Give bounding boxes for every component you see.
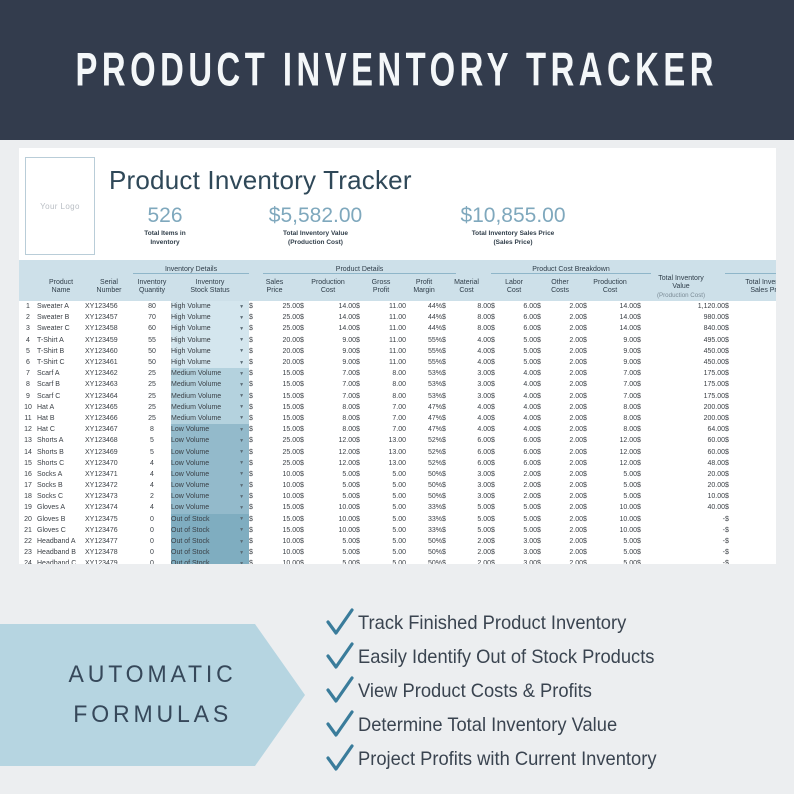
chevron-down-icon[interactable]: ▼ <box>239 326 244 332</box>
cell-value[interactable]: 8.00 <box>370 379 406 390</box>
cell-profit-margin[interactable]: 47% <box>406 424 442 435</box>
cell-inventory-quantity[interactable]: 60 <box>133 323 171 334</box>
cell-value[interactable]: 5.00 <box>370 480 406 491</box>
cell-value[interactable]: 5.00 <box>370 491 406 502</box>
cell-profit-margin[interactable]: 55% <box>406 357 442 368</box>
cell-value[interactable]: - <box>739 525 776 536</box>
cell-profit-margin[interactable]: 50% <box>406 536 442 547</box>
table-row[interactable]: 24Headband CXY1234790Out of Stock▼$10.00… <box>19 558 776 564</box>
cell-stock-status[interactable]: Medium Volume▼ <box>171 402 249 413</box>
cell-value[interactable]: 14.00 <box>597 301 637 312</box>
cell-value[interactable]: 14.00 <box>314 301 356 312</box>
cell-value[interactable]: 4.00 <box>456 424 491 435</box>
cell-value[interactable]: 40.00 <box>739 469 776 480</box>
chevron-down-icon[interactable]: ▼ <box>239 516 244 522</box>
cell-serial-number[interactable]: XY123457 <box>85 312 133 323</box>
cell-profit-margin[interactable]: 50% <box>406 469 442 480</box>
cell-value[interactable]: 14.00 <box>314 323 356 334</box>
table-row[interactable]: 4T-Shirt AXY12345955High Volume▼$20.00$9… <box>19 335 776 346</box>
cell-value[interactable]: 450.00 <box>651 357 725 368</box>
cell-value[interactable]: 4.00 <box>505 402 537 413</box>
cell-value[interactable]: 20.00 <box>651 480 725 491</box>
cell-value[interactable]: 5.00 <box>505 502 537 513</box>
cell-serial-number[interactable]: XY123471 <box>85 469 133 480</box>
cell-inventory-quantity[interactable]: 0 <box>133 536 171 547</box>
cell-stock-status[interactable]: High Volume▼ <box>171 323 249 334</box>
cell-inventory-quantity[interactable]: 0 <box>133 558 171 564</box>
cell-value[interactable]: 9.00 <box>314 346 356 357</box>
cell-product-name[interactable]: Socks C <box>37 491 85 502</box>
cell-product-name[interactable]: T-Shirt B <box>37 346 85 357</box>
cell-value[interactable]: 12.00 <box>597 458 637 469</box>
cell-value[interactable]: - <box>651 558 725 564</box>
cell-profit-margin[interactable]: 33% <box>406 502 442 513</box>
cell-value[interactable]: 14.00 <box>597 323 637 334</box>
cell-stock-status[interactable]: High Volume▼ <box>171 346 249 357</box>
cell-value[interactable]: 11.00 <box>370 312 406 323</box>
table-row[interactable]: 19Gloves AXY1234744Low Volume▼$15.00$10.… <box>19 502 776 513</box>
cell-serial-number[interactable]: XY123459 <box>85 335 133 346</box>
cell-stock-status[interactable]: Medium Volume▼ <box>171 391 249 402</box>
cell-value[interactable]: 8.00 <box>314 413 356 424</box>
chevron-down-icon[interactable]: ▼ <box>239 337 244 343</box>
cell-value[interactable]: 10.00 <box>597 514 637 525</box>
cell-value[interactable]: 11.00 <box>370 301 406 312</box>
cell-value[interactable]: 48.00 <box>651 458 725 469</box>
cell-value[interactable]: 2.00 <box>456 536 491 547</box>
cell-value[interactable]: 9.00 <box>597 335 637 346</box>
table-row[interactable]: 11Hat BXY12346625Medium Volume▼$15.00$8.… <box>19 413 776 424</box>
cell-serial-number[interactable]: XY123467 <box>85 424 133 435</box>
table-row[interactable]: 7Scarf AXY12346225Medium Volume▼$15.00$7… <box>19 368 776 379</box>
cell-value[interactable]: 2.00 <box>551 379 583 390</box>
cell-stock-status[interactable]: High Volume▼ <box>171 312 249 323</box>
chevron-down-icon[interactable]: ▼ <box>239 561 244 564</box>
cell-stock-status[interactable]: High Volume▼ <box>171 335 249 346</box>
cell-value[interactable]: 200.00 <box>651 402 725 413</box>
cell-value[interactable]: 14.00 <box>597 312 637 323</box>
cell-stock-status[interactable]: Medium Volume▼ <box>171 413 249 424</box>
cell-value[interactable]: 5.00 <box>314 558 356 564</box>
cell-value[interactable]: 10.00 <box>597 502 637 513</box>
cell-product-name[interactable]: T-Shirt A <box>37 335 85 346</box>
cell-value[interactable]: 980.00 <box>651 312 725 323</box>
cell-value[interactable]: 4.00 <box>456 402 491 413</box>
cell-value[interactable]: 5.00 <box>370 547 406 558</box>
chevron-down-icon[interactable]: ▼ <box>239 527 244 533</box>
col-gross-profit[interactable]: GrossProfit <box>356 273 406 301</box>
cell-value[interactable]: 5.00 <box>314 491 356 502</box>
table-row[interactable]: 10Hat AXY12346525Medium Volume▼$15.00$8.… <box>19 402 776 413</box>
cell-value[interactable]: 25.00 <box>263 323 300 334</box>
cell-profit-margin[interactable]: 44% <box>406 312 442 323</box>
cell-value[interactable]: 7.00 <box>597 379 637 390</box>
cell-value[interactable]: 450.00 <box>651 346 725 357</box>
cell-value[interactable]: 1,000.00 <box>739 346 776 357</box>
cell-inventory-quantity[interactable]: 55 <box>133 335 171 346</box>
cell-inventory-quantity[interactable]: 0 <box>133 525 171 536</box>
chevron-down-icon[interactable]: ▼ <box>239 539 244 545</box>
cell-value[interactable]: - <box>651 525 725 536</box>
cell-product-name[interactable]: Sweater B <box>37 312 85 323</box>
cell-value[interactable]: 10.00 <box>314 525 356 536</box>
cell-stock-status[interactable]: Low Volume▼ <box>171 469 249 480</box>
cell-value[interactable]: 10.00 <box>314 514 356 525</box>
cell-value[interactable]: 15.00 <box>263 514 300 525</box>
cell-value[interactable]: 5.00 <box>505 346 537 357</box>
cell-value[interactable]: 4.00 <box>505 424 537 435</box>
cell-value[interactable]: 15.00 <box>263 525 300 536</box>
cell-value[interactable]: 2.00 <box>551 547 583 558</box>
cell-value[interactable]: 12.00 <box>314 435 356 446</box>
cell-profit-margin[interactable]: 50% <box>406 547 442 558</box>
cell-value[interactable]: 11.00 <box>370 357 406 368</box>
cell-value[interactable]: 25.00 <box>263 312 300 323</box>
cell-value[interactable]: 2.00 <box>551 536 583 547</box>
cell-serial-number[interactable]: XY123474 <box>85 502 133 513</box>
cell-value[interactable]: 6.00 <box>456 435 491 446</box>
cell-profit-margin[interactable]: 53% <box>406 391 442 402</box>
cell-inventory-quantity[interactable]: 25 <box>133 402 171 413</box>
logo-placeholder-box[interactable]: Your Logo <box>25 157 95 255</box>
cell-value[interactable]: 12.00 <box>314 458 356 469</box>
cell-value[interactable]: - <box>651 514 725 525</box>
cell-value[interactable]: 12.00 <box>314 446 356 457</box>
cell-product-name[interactable]: Headband B <box>37 547 85 558</box>
cell-value[interactable]: 4.00 <box>456 335 491 346</box>
cell-value[interactable]: 2.00 <box>456 558 491 564</box>
chevron-down-icon[interactable]: ▼ <box>239 427 244 433</box>
cell-value[interactable]: 5.00 <box>370 525 406 536</box>
cell-product-name[interactable]: Shorts A <box>37 435 85 446</box>
cell-value[interactable]: 5.00 <box>370 514 406 525</box>
col-production-cost-2[interactable]: ProductionCost <box>583 273 637 301</box>
cell-value[interactable]: 25.00 <box>263 301 300 312</box>
cell-value[interactable]: 5.00 <box>597 547 637 558</box>
cell-serial-number[interactable]: XY123469 <box>85 446 133 457</box>
table-row[interactable]: 9Scarf CXY12346425Medium Volume▼$15.00$7… <box>19 391 776 402</box>
cell-value[interactable]: 2.00 <box>551 301 583 312</box>
cell-serial-number[interactable]: XY123468 <box>85 435 133 446</box>
cell-value[interactable]: 2.00 <box>456 547 491 558</box>
cell-value[interactable]: 6.00 <box>505 435 537 446</box>
cell-value[interactable]: 4.00 <box>505 413 537 424</box>
cell-value[interactable]: 5.00 <box>597 480 637 491</box>
col-profit-margin[interactable]: ProfitMargin <box>406 273 442 301</box>
table-row[interactable]: 21Gloves CXY1234760Out of Stock▼$15.00$1… <box>19 525 776 536</box>
cell-product-name[interactable]: Hat A <box>37 402 85 413</box>
cell-value[interactable]: 6.00 <box>505 312 537 323</box>
cell-value[interactable]: 8.00 <box>597 424 637 435</box>
cell-value[interactable]: 4.00 <box>505 379 537 390</box>
cell-value[interactable]: 5.00 <box>505 335 537 346</box>
cell-profit-margin[interactable]: 44% <box>406 301 442 312</box>
cell-value[interactable]: 2.00 <box>551 424 583 435</box>
chevron-down-icon[interactable]: ▼ <box>239 371 244 377</box>
cell-inventory-quantity[interactable]: 80 <box>133 301 171 312</box>
cell-profit-margin[interactable]: 50% <box>406 480 442 491</box>
cell-value[interactable]: 7.00 <box>370 413 406 424</box>
cell-value[interactable]: 11.00 <box>370 335 406 346</box>
cell-product-name[interactable]: Sweater A <box>37 301 85 312</box>
col-material-cost[interactable]: MaterialCost <box>442 273 491 301</box>
table-row[interactable]: 12Hat CXY1234678Low Volume▼$15.00$8.00$7… <box>19 424 776 435</box>
cell-profit-margin[interactable]: 55% <box>406 346 442 357</box>
cell-value[interactable]: 5.00 <box>370 558 406 564</box>
cell-value[interactable]: 6.00 <box>505 323 537 334</box>
cell-inventory-quantity[interactable]: 25 <box>133 413 171 424</box>
cell-value[interactable]: 2.00 <box>551 446 583 457</box>
chevron-down-icon[interactable]: ▼ <box>239 483 244 489</box>
chevron-down-icon[interactable]: ▼ <box>239 460 244 466</box>
cell-value[interactable]: 40.00 <box>651 502 725 513</box>
cell-profit-margin[interactable]: 53% <box>406 368 442 379</box>
col-other-costs[interactable]: OtherCosts <box>537 273 583 301</box>
table-row[interactable]: 2Sweater BXY12345770High Volume▼$25.00$1… <box>19 312 776 323</box>
cell-product-name[interactable]: Hat B <box>37 413 85 424</box>
cell-serial-number[interactable]: XY123462 <box>85 368 133 379</box>
col-total-inventory-sales-price[interactable]: Total InventorySales Price <box>725 273 776 301</box>
table-row[interactable]: 16Socks AXY1234714Low Volume▼$10.00$5.00… <box>19 469 776 480</box>
cell-serial-number[interactable]: XY123476 <box>85 525 133 536</box>
cell-profit-margin[interactable]: 33% <box>406 525 442 536</box>
cell-value[interactable]: 2.00 <box>551 491 583 502</box>
cell-value[interactable]: 175.00 <box>651 368 725 379</box>
cell-product-name[interactable]: Sweater C <box>37 323 85 334</box>
cell-value[interactable]: 7.00 <box>597 368 637 379</box>
cell-value[interactable]: 2.00 <box>505 491 537 502</box>
chevron-down-icon[interactable]: ▼ <box>239 505 244 511</box>
cell-inventory-quantity[interactable]: 5 <box>133 435 171 446</box>
cell-inventory-quantity[interactable]: 0 <box>133 547 171 558</box>
cell-value[interactable]: 15.00 <box>263 391 300 402</box>
cell-value[interactable]: 2.00 <box>551 402 583 413</box>
cell-value[interactable]: 4.00 <box>456 346 491 357</box>
cell-value[interactable]: 1,750.00 <box>739 312 776 323</box>
cell-value[interactable]: 5.00 <box>314 547 356 558</box>
cell-value[interactable]: 5.00 <box>456 525 491 536</box>
cell-value[interactable]: 8.00 <box>370 368 406 379</box>
chevron-down-icon[interactable]: ▼ <box>239 550 244 556</box>
cell-value[interactable]: 10.00 <box>314 502 356 513</box>
cell-profit-margin[interactable]: 50% <box>406 558 442 564</box>
cell-value[interactable]: 7.00 <box>370 424 406 435</box>
cell-product-name[interactable]: Socks A <box>37 469 85 480</box>
cell-value[interactable]: 5.00 <box>370 536 406 547</box>
col-inventory-quantity[interactable]: InventoryQuantity <box>133 273 171 301</box>
cell-value[interactable]: 5.00 <box>597 558 637 564</box>
cell-serial-number[interactable]: XY123465 <box>85 402 133 413</box>
cell-value[interactable]: 25.00 <box>263 446 300 457</box>
cell-product-name[interactable]: Gloves C <box>37 525 85 536</box>
cell-inventory-quantity[interactable]: 4 <box>133 469 171 480</box>
cell-value[interactable]: 10.00 <box>263 558 300 564</box>
cell-value[interactable]: 2.00 <box>551 312 583 323</box>
cell-value[interactable]: 2.00 <box>551 391 583 402</box>
cell-product-name[interactable]: Shorts C <box>37 458 85 469</box>
cell-value[interactable]: 15.00 <box>263 413 300 424</box>
cell-value[interactable]: 3.00 <box>505 547 537 558</box>
cell-product-name[interactable]: Socks B <box>37 480 85 491</box>
cell-serial-number[interactable]: XY123472 <box>85 480 133 491</box>
cell-product-name[interactable]: Headband C <box>37 558 85 564</box>
cell-value[interactable]: 5.00 <box>456 502 491 513</box>
cell-inventory-quantity[interactable]: 8 <box>133 424 171 435</box>
chevron-down-icon[interactable]: ▼ <box>239 449 244 455</box>
cell-inventory-quantity[interactable]: 50 <box>133 346 171 357</box>
cell-value[interactable]: 5.00 <box>597 469 637 480</box>
table-row[interactable]: 13Shorts AXY1234685Low Volume▼$25.00$12.… <box>19 435 776 446</box>
cell-value[interactable]: 4.00 <box>456 357 491 368</box>
cell-value[interactable]: 25.00 <box>263 435 300 446</box>
cell-value[interactable]: 40.00 <box>739 480 776 491</box>
cell-stock-status[interactable]: Medium Volume▼ <box>171 368 249 379</box>
cell-value[interactable]: 5.00 <box>314 536 356 547</box>
table-row[interactable]: 1Sweater AXY12345680High Volume▼$25.00$1… <box>19 301 776 312</box>
cell-value[interactable]: 12.00 <box>597 435 637 446</box>
cell-product-name[interactable]: Gloves B <box>37 514 85 525</box>
cell-profit-margin[interactable]: 33% <box>406 514 442 525</box>
cell-value[interactable]: 2.00 <box>551 502 583 513</box>
cell-value[interactable]: 60.00 <box>739 502 776 513</box>
chevron-down-icon[interactable]: ▼ <box>239 471 244 477</box>
cell-stock-status[interactable]: Medium Volume▼ <box>171 379 249 390</box>
cell-value[interactable]: 175.00 <box>651 391 725 402</box>
cell-value[interactable]: 8.00 <box>314 402 356 413</box>
cell-value[interactable]: 3.00 <box>456 379 491 390</box>
cell-product-name[interactable]: Scarf B <box>37 379 85 390</box>
chevron-down-icon[interactable]: ▼ <box>239 393 244 399</box>
cell-stock-status[interactable]: Low Volume▼ <box>171 435 249 446</box>
cell-stock-status[interactable]: Low Volume▼ <box>171 424 249 435</box>
chevron-down-icon[interactable]: ▼ <box>239 348 244 354</box>
table-row[interactable]: 5T-Shirt BXY12346050High Volume▼$20.00$9… <box>19 346 776 357</box>
cell-inventory-quantity[interactable]: 25 <box>133 368 171 379</box>
cell-value[interactable]: 8.00 <box>314 424 356 435</box>
cell-inventory-quantity[interactable]: 4 <box>133 458 171 469</box>
cell-value[interactable]: 495.00 <box>651 335 725 346</box>
cell-value[interactable]: 3.00 <box>505 536 537 547</box>
chevron-down-icon[interactable]: ▼ <box>239 438 244 444</box>
col-inventory-stock-status[interactable]: InventoryStock Status <box>171 273 249 301</box>
cell-value[interactable]: 6.00 <box>456 446 491 457</box>
cell-value[interactable]: 60.00 <box>651 435 725 446</box>
cell-value[interactable]: 10.00 <box>597 525 637 536</box>
col-product-name[interactable]: ProductName <box>37 273 85 301</box>
cell-value[interactable]: 4.00 <box>505 391 537 402</box>
cell-value[interactable]: 5.00 <box>456 514 491 525</box>
cell-value[interactable]: 12.00 <box>597 446 637 457</box>
cell-value[interactable]: 15.00 <box>263 379 300 390</box>
cell-inventory-quantity[interactable]: 4 <box>133 502 171 513</box>
col-total-inventory-value[interactable]: Total InventoryValue(Production Cost) <box>637 273 725 301</box>
cell-value[interactable]: 5.00 <box>370 469 406 480</box>
cell-value[interactable]: 20.00 <box>263 357 300 368</box>
cell-value[interactable]: 375.00 <box>739 402 776 413</box>
chevron-down-icon[interactable]: ▼ <box>239 494 244 500</box>
cell-value[interactable]: 9.00 <box>314 335 356 346</box>
cell-value[interactable]: 375.00 <box>739 379 776 390</box>
cell-value[interactable]: 6.00 <box>505 458 537 469</box>
table-row[interactable]: 6T-Shirt CXY12346150High Volume▼$20.00$9… <box>19 357 776 368</box>
cell-value[interactable]: 3.00 <box>505 558 537 564</box>
cell-stock-status[interactable]: Out of Stock▼ <box>171 558 249 564</box>
cell-profit-margin[interactable]: 50% <box>406 491 442 502</box>
table-row[interactable]: 23Headband BXY1234780Out of Stock▼$10.00… <box>19 547 776 558</box>
cell-serial-number[interactable]: XY123477 <box>85 536 133 547</box>
cell-value[interactable]: 11.00 <box>370 323 406 334</box>
cell-value[interactable]: 15.00 <box>263 424 300 435</box>
col-sales-price[interactable]: SalesPrice <box>249 273 300 301</box>
cell-stock-status[interactable]: Out of Stock▼ <box>171 525 249 536</box>
cell-value[interactable]: 10.00 <box>263 469 300 480</box>
cell-value[interactable]: 8.00 <box>456 301 491 312</box>
cell-value[interactable]: 100.00 <box>739 458 776 469</box>
cell-value[interactable]: 5.00 <box>505 514 537 525</box>
cell-inventory-quantity[interactable]: 50 <box>133 357 171 368</box>
cell-profit-margin[interactable]: 44% <box>406 323 442 334</box>
cell-value[interactable]: 10.00 <box>263 480 300 491</box>
cell-value[interactable]: 4.00 <box>505 368 537 379</box>
table-row[interactable]: 18Socks CXY1234732Low Volume▼$10.00$5.00… <box>19 491 776 502</box>
cell-stock-status[interactable]: Low Volume▼ <box>171 502 249 513</box>
cell-value[interactable]: 175.00 <box>651 379 725 390</box>
cell-value[interactable]: 3.00 <box>456 469 491 480</box>
cell-value[interactable]: 3.00 <box>456 480 491 491</box>
cell-value[interactable]: 840.00 <box>651 323 725 334</box>
cell-value[interactable]: 375.00 <box>739 391 776 402</box>
chevron-down-icon[interactable]: ▼ <box>239 415 244 421</box>
cell-stock-status[interactable]: Low Volume▼ <box>171 446 249 457</box>
cell-product-name[interactable]: Scarf C <box>37 391 85 402</box>
cell-value[interactable]: - <box>651 536 725 547</box>
cell-value[interactable]: 2.00 <box>551 335 583 346</box>
cell-value[interactable]: 8.00 <box>456 312 491 323</box>
cell-inventory-quantity[interactable]: 70 <box>133 312 171 323</box>
cell-serial-number[interactable]: XY123479 <box>85 558 133 564</box>
cell-value[interactable]: 6.00 <box>456 458 491 469</box>
cell-value[interactable]: 20.00 <box>263 335 300 346</box>
cell-serial-number[interactable]: XY123458 <box>85 323 133 334</box>
cell-value[interactable]: 13.00 <box>370 435 406 446</box>
cell-value[interactable]: 6.00 <box>505 446 537 457</box>
cell-inventory-quantity[interactable]: 25 <box>133 391 171 402</box>
cell-serial-number[interactable]: XY123475 <box>85 514 133 525</box>
cell-stock-status[interactable]: Low Volume▼ <box>171 480 249 491</box>
cell-value[interactable]: 8.00 <box>597 413 637 424</box>
cell-value[interactable]: 3.00 <box>456 368 491 379</box>
cell-profit-margin[interactable]: 52% <box>406 458 442 469</box>
cell-value[interactable]: 15.00 <box>263 502 300 513</box>
cell-value[interactable]: 9.00 <box>314 357 356 368</box>
cell-serial-number[interactable]: XY123473 <box>85 491 133 502</box>
cell-value[interactable]: 3.00 <box>456 491 491 502</box>
cell-value[interactable]: 15.00 <box>263 368 300 379</box>
cell-profit-margin[interactable]: 47% <box>406 413 442 424</box>
table-row[interactable]: 14Shorts BXY1234695Low Volume▼$25.00$12.… <box>19 446 776 457</box>
cell-product-name[interactable]: Hat C <box>37 424 85 435</box>
cell-value[interactable]: 5.00 <box>597 536 637 547</box>
cell-value[interactable]: 5.00 <box>597 491 637 502</box>
cell-serial-number[interactable]: XY123478 <box>85 547 133 558</box>
cell-value[interactable]: 1,000.00 <box>739 357 776 368</box>
cell-value[interactable]: 2.00 <box>551 514 583 525</box>
cell-value[interactable]: 375.00 <box>739 413 776 424</box>
cell-value[interactable]: 14.00 <box>314 312 356 323</box>
cell-value[interactable]: 10.00 <box>651 491 725 502</box>
cell-value[interactable]: 4.00 <box>456 413 491 424</box>
cell-value[interactable]: 25.00 <box>263 458 300 469</box>
